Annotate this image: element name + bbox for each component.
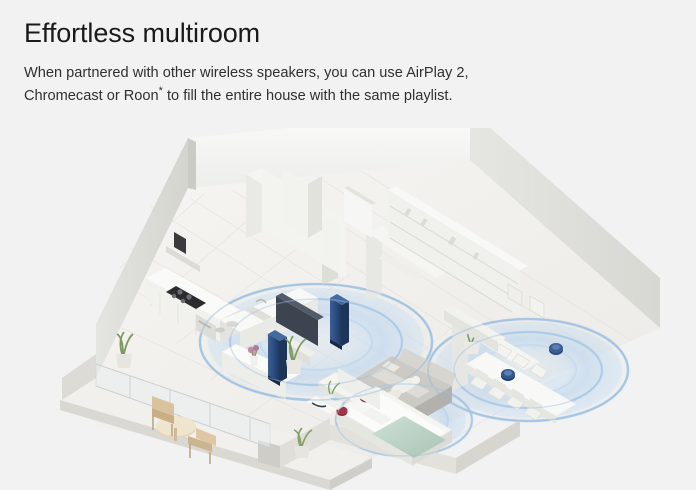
subtitle-line-2-post: to fill the entire house with the same p… <box>163 88 453 104</box>
speaker-tower-left <box>268 330 287 386</box>
speaker-tower-right <box>330 294 349 350</box>
page-root: Effortless multiroom When partnered with… <box>0 0 696 490</box>
compact-speaker-dining-b <box>501 369 515 381</box>
text-block: Effortless multiroom When partnered with… <box>24 16 644 108</box>
subtitle-line-1: When partnered with other wireless speak… <box>24 65 469 81</box>
page-subtitle: When partnered with other wireless speak… <box>24 62 599 108</box>
compact-speaker-dining-a <box>549 343 563 355</box>
subtitle-line-2-pre: Chromecast or Roon <box>24 88 159 104</box>
apartment-illustration <box>0 128 696 490</box>
page-title: Effortless multiroom <box>24 16 644 50</box>
